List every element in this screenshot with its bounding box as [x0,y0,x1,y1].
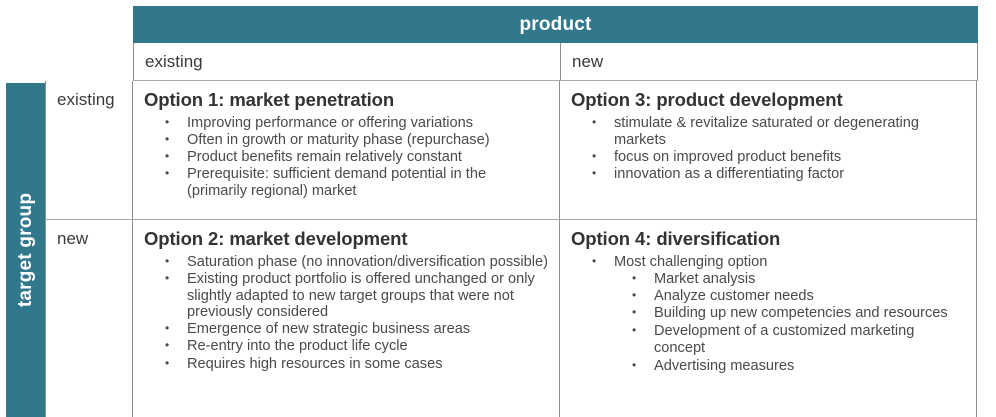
list-item: Most challenging option Market analysis … [592,254,966,375]
column-header-existing: existing [134,43,561,80]
column-header-row: existing new [133,43,978,81]
sub-bullet-list-option-4: Market analysis Analyze customer needs B… [614,271,966,375]
row-axis-band: target group [6,83,45,417]
list-item-text: Most challenging option [614,254,767,270]
sub-list-item: Advertising measures [632,358,966,375]
list-item: innovation as a differentiating factor [592,166,966,183]
list-item: Product benefits remain relatively const… [165,149,549,166]
bullet-list-option-1: Improving performance or offering variat… [143,115,549,199]
row-header-existing: existing [45,81,133,219]
list-item: Existing product portfolio is offered un… [165,271,549,321]
matrix-cell-option-1: Option 1: market penetration Improving p… [133,81,560,219]
cell-title-option-1: Option 1: market penetration [144,89,549,111]
sub-list-item: Building up new competencies and resourc… [632,305,966,322]
row-axis-label: target group [15,193,37,307]
bullet-list-option-3: stimulate & revitalize saturated or dege… [570,115,966,182]
list-item: Saturation phase (no innovation/diversif… [165,254,549,271]
sub-list-item: Development of a customized marketing co… [632,323,966,358]
matrix-body: existing Option 1: market penetration Im… [45,81,978,417]
cell-title-option-3: Option 3: product development [571,89,966,111]
list-item: Improving performance or offering variat… [165,115,549,132]
matrix-cell-option-4: Option 4: diversification Most challengi… [560,220,977,417]
list-item: Prerequisite: sufficient demand potentia… [165,166,549,199]
column-axis-band: product [133,6,978,43]
ansoff-matrix: target group product existing new existi… [0,0,996,417]
list-item: Emergence of new strategic business area… [165,321,549,338]
list-item: Requires high resources in some cases [165,356,549,373]
matrix-cell-option-3: Option 3: product development stimulate … [560,81,977,219]
list-item: Often in growth or maturity phase (repur… [165,132,549,149]
matrix-row-new: new Option 2: market development Saturat… [45,220,978,417]
row-header-new: new [45,220,133,417]
column-axis-label: product [519,14,591,36]
list-item: stimulate & revitalize saturated or dege… [592,115,966,148]
bullet-list-option-4: Most challenging option Market analysis … [570,254,966,375]
cell-title-option-4: Option 4: diversification [571,228,966,250]
sub-list-item: Market analysis [632,271,966,288]
matrix-cell-option-2: Option 2: market development Saturation … [133,220,560,417]
bullet-list-option-2: Saturation phase (no innovation/diversif… [143,254,549,372]
sub-list-item: Analyze customer needs [632,288,966,305]
column-header-new: new [561,43,977,80]
cell-title-option-2: Option 2: market development [144,228,549,250]
matrix-row-existing: existing Option 1: market penetration Im… [45,81,978,220]
list-item: focus on improved product benefits [592,149,966,166]
list-item: Re-entry into the product life cycle [165,338,549,355]
